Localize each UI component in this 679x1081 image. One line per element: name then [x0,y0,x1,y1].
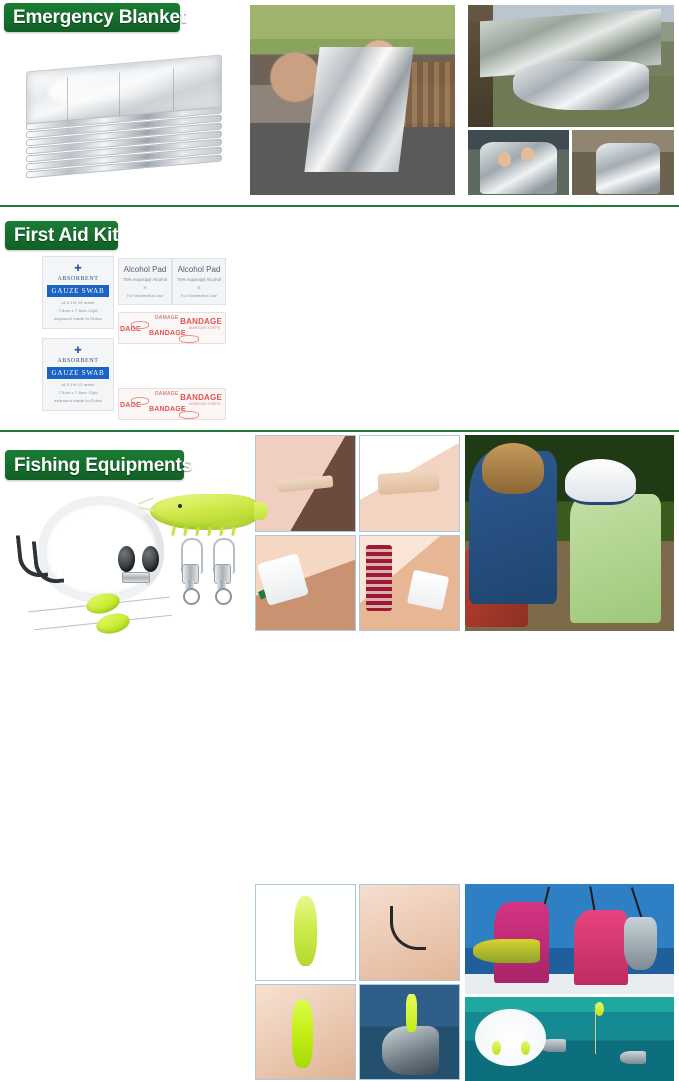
photo-bivvy-bag-detail [513,61,649,110]
lure-tail [254,502,268,520]
gauze-spec-line-3: as/pouch made in China [54,316,102,321]
bandage-sublabel: ADHESIVE STRIPS [189,326,220,330]
mylar-crease [173,68,174,112]
photo-fish-striking-lure [359,984,460,1081]
photo-person-wrapped-outdoors [572,130,674,195]
photo-caught-fish-detail [473,939,540,963]
gauze-spec-line-2: 7.5cm x 7.5cm 12pli [58,390,97,395]
alcohol-pad-packet: Alcohol Pad 75% Isopropyl Alcohol ✲ For … [172,258,226,305]
photo-rigged-lure-in-hand [255,984,356,1081]
lead-sinker-weight [118,546,135,572]
section-badge-emergency-blanket: Emergency Blanket [4,3,180,32]
bandage-label: BANDAGE [180,317,222,326]
product-illustration-first-aid-supplies: ✚ ABSORBENT GAUZE SWAB of 5.1% 13 mesh 7… [0,250,248,425]
gauze-swab-packet: ✚ ABSORBENT GAUZE SWAB of 5.1% 13 mesh 7… [42,338,114,411]
gauze-spec-line-1: of 5.1% 13 mesh [61,300,94,305]
lure-leg [183,527,188,536]
photo-girl-right-detail [574,910,628,985]
barrel-swivel-snap [178,538,204,604]
fishing-hook [32,539,64,586]
lure-eye-detail [178,504,182,508]
photo-underwater-float-rig [465,997,674,1081]
section-first-aid-kit: First Aid Kit ✚ ABSORBENT GAUZE SWAB of … [0,207,679,429]
bandage-brand-text: DAMAGE [155,315,178,321]
lure-leg [231,527,236,536]
gauze-swab-label: GAUZE SWAB [47,285,109,297]
gauze-spec-line-3: as/pouch made in China [54,398,102,403]
product-illustration-fishing-tackle-set [0,488,248,648]
gauze-spec-line-2: 7.5cm x 7.5cm 12pli [58,308,97,313]
photo-blanket-wrap-detail [596,143,659,194]
swivel-ring [215,588,232,605]
alcohol-pad-strength: 75% Isopropyl Alcohol [177,277,221,282]
photo-inset-callout [475,1009,546,1066]
alcohol-pad-pair: Alcohol Pad 75% Isopropyl Alcohol ✲ For … [118,258,226,305]
photo-fish-detail [382,1026,439,1075]
gauze-absorbent-label: ABSORBENT [57,358,98,364]
mylar-crease [67,77,68,121]
alcohol-pad-icon: ✲ [197,285,200,290]
gauze-swab-label: GAUZE SWAB [47,367,109,379]
bandage-motif [179,411,199,419]
medical-cross-icon: ✚ [74,264,82,273]
barrel-swivel-snap [210,538,236,604]
photo-lure-detail [406,994,418,1032]
photo-child-face-detail [521,147,534,162]
lure-leg [195,527,200,536]
photo-two-girls-holding-fish [465,884,674,994]
bandage-brand-text: DAMAGE [155,391,178,397]
photo-rig-bead-detail [595,1002,604,1016]
photo-foil-blanket-detail [304,47,414,172]
photo-hook-in-fingers [359,884,460,981]
shrimp-soft-lure [150,494,258,530]
bandage-label: BANDAGE [180,393,222,402]
photo-lure-detail [292,1000,314,1068]
photo-shrimp-lure-closeup [255,884,356,981]
alcohol-pad-usage: For Disinfection Use [127,293,163,298]
alcohol-pad-icon: ✲ [143,285,146,290]
mylar-blanket-stack [26,54,222,179]
photo-underwater-fish-detail [620,1051,646,1064]
bandage-motif [179,335,199,343]
gauze-absorbent-label: ABSORBENT [57,276,98,282]
mylar-crease [119,72,120,116]
section-badge-fishing-equipments: Fishing Equipments [5,450,184,480]
alcohol-pad-usage: For Disinfection Use [181,293,217,298]
crimp-sleeve [122,572,150,583]
lure-leg [219,527,224,536]
bandage-motif [131,321,149,329]
lure-leg [207,527,212,536]
photo-blanket-wrap-detail [480,142,557,194]
lure-antenna [138,497,154,505]
infographic-sheet: Emergency Blanket [0,0,679,653]
photo-two-children-wrapped [468,130,569,195]
swivel-ring [183,588,200,605]
gauze-spec-line-1: of 5.1% 13 mesh [61,382,94,387]
photo-lure-detail [294,896,318,966]
float-rig-bead [94,610,132,637]
photo-caught-fish-detail [624,917,657,970]
medical-cross-icon: ✚ [74,346,82,355]
product-illustration-folded-mylar-emergency-blanket [0,45,248,195]
photo-grid-fishing-usage [255,884,460,1080]
section-badge-first-aid-kit: First Aid Kit [5,221,118,250]
alcohol-pad-title: Alcohol Pad [178,265,221,274]
bandage-sublabel: ADHESIVE STRIPS [189,402,220,406]
section-emergency-blanket: Emergency Blanket [0,0,679,205]
gauze-swab-packet: ✚ ABSORBENT GAUZE SWAB of 5.1% 13 mesh 7… [42,256,114,329]
lure-leg [171,527,176,536]
photo-camp-shelter-bivouac [468,5,674,127]
alcohol-pad-strength: 75% Isopropyl Alcohol [123,277,167,282]
photo-callout-bead [492,1041,501,1055]
adhesive-bandage-strip: BANDAGE ADHESIVE STRIPS BANDAGE DAGE DAM… [118,388,226,420]
alcohol-pad-packet: Alcohol Pad 75% Isopropyl Alcohol ✲ For … [118,258,172,305]
adhesive-bandage-strip: BANDAGE ADHESIVE STRIPS BANDAGE DAGE DAM… [118,312,226,344]
alcohol-pad-title: Alcohol Pad [124,265,167,274]
section-fishing-equipments: Fishing Equipments [0,432,679,653]
photo-marathon-runner-wrapped [250,5,455,195]
bandage-motif [131,397,149,405]
lead-sinker-weight [142,546,159,572]
